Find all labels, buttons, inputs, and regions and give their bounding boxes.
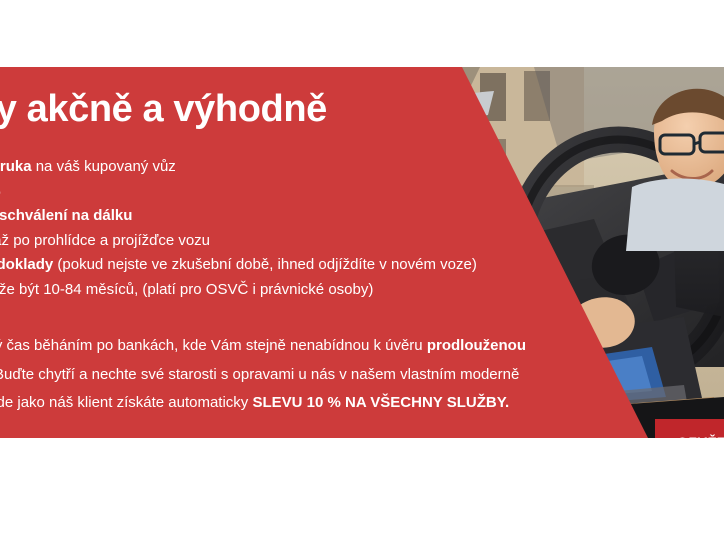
benefits-list: ená záruka na váš kupovaný vůz od 0 % é …: [0, 155, 554, 302]
banner-content: átky akčně a výhodně ená záruka na váš k…: [0, 67, 724, 438]
paragraph-text: vozu! Buďte chytří a nechte své starosti…: [0, 366, 519, 383]
list-item-text: na váš kupovaný vůz: [32, 158, 176, 175]
list-item: louvy až po prohlídce a projížďce vozu: [0, 229, 554, 254]
page-root: átky akčně a výhodně ená záruka na váš k…: [0, 0, 724, 560]
promo-paragraph: ocenný čas běháním po bankách, kde Vám s…: [0, 332, 594, 418]
cta-button[interactable]: OZVĚTE: [655, 419, 724, 438]
list-item-strong: e dva doklady: [0, 256, 53, 273]
list-item-text: od 0 %: [0, 183, 1, 200]
paragraph-text: ocenný čas běháním po bankách, kde Vám s…: [0, 337, 427, 354]
list-item-text: tek může být 10-84 měsíců, (platí pro OS…: [0, 281, 373, 298]
cta-button-label: OZVĚTE: [677, 434, 724, 438]
list-item-text: louvy až po prohlídce a projížďce vozu: [0, 232, 210, 249]
paragraph-strong: SLEVU 10 % NA VŠECHNY SLUŽBY.: [252, 394, 509, 411]
paragraph-strong: prodlouženou: [427, 337, 526, 354]
paragraph-text: visu, kde jako náš klient získáte automa…: [0, 394, 252, 411]
paragraph-line: visu, kde jako náš klient získáte automa…: [0, 389, 594, 418]
list-item: e dva doklady (pokud nejste ve zkušební …: [0, 253, 554, 278]
promo-banner: átky akčně a výhodně ená záruka na váš k…: [0, 67, 724, 438]
list-item: tek může být 10-84 měsíců, (platí pro OS…: [0, 278, 554, 303]
paragraph-line: vozu! Buďte chytří a nechte své starosti…: [0, 361, 594, 390]
list-item: od 0 %: [0, 180, 554, 205]
list-item: é předschválení na dálku: [0, 204, 554, 229]
page-title: átky akčně a výhodně: [0, 87, 462, 131]
list-item-text: (pokud nejste ve zkušební době, ihned od…: [53, 256, 477, 273]
list-item: ená záruka na váš kupovaný vůz: [0, 155, 554, 180]
list-item-strong: ená záruka: [0, 158, 32, 175]
paragraph-line: ocenný čas běháním po bankách, kde Vám s…: [0, 332, 594, 361]
list-item-strong: é předschválení na dálku: [0, 207, 132, 224]
